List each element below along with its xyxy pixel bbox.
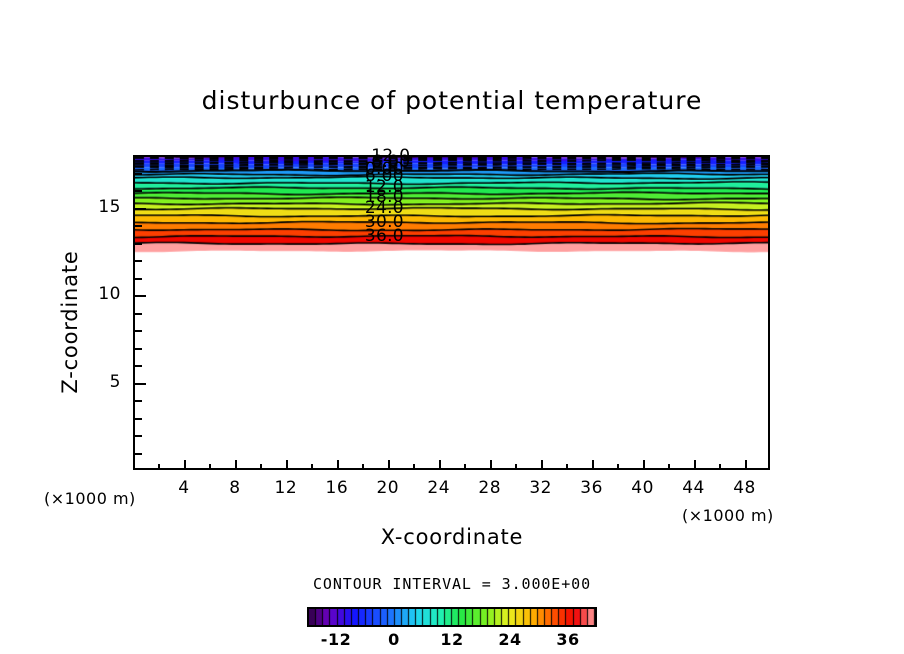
y-tick-label: 5 xyxy=(81,372,121,392)
axis-tick-mark xyxy=(490,460,492,470)
axis-tick-mark xyxy=(694,460,696,470)
x-tick-label: 12 xyxy=(266,478,306,498)
axis-tick-mark xyxy=(158,464,160,470)
x-tick-label: 48 xyxy=(725,478,765,498)
contour-interval-caption: CONTOUR INTERVAL = 3.000E+00 xyxy=(0,575,904,593)
axis-tick-mark xyxy=(286,460,288,470)
axis-tick-mark xyxy=(439,460,441,470)
axis-tick-mark xyxy=(134,365,142,367)
axis-tick-mark xyxy=(134,435,142,437)
y-tick-label: 10 xyxy=(81,284,121,304)
y-tick-label: 15 xyxy=(81,197,121,217)
contour-plot-area xyxy=(133,155,770,470)
colorbar-tick-label: 36 xyxy=(543,630,593,649)
axis-tick-mark xyxy=(134,225,142,227)
axis-tick-mark xyxy=(541,460,543,470)
axis-tick-mark xyxy=(413,464,415,470)
colorbar-canvas xyxy=(309,609,595,625)
axis-tick-mark xyxy=(134,330,142,332)
x-tick-label: 4 xyxy=(164,478,204,498)
axis-tick-mark xyxy=(134,383,146,385)
axis-tick-mark xyxy=(134,453,142,455)
y-axis-title: Z-coordinate xyxy=(58,212,82,432)
x-tick-label: 40 xyxy=(623,478,663,498)
axis-tick-mark xyxy=(388,460,390,470)
contour-level-label: 36.0 xyxy=(365,226,404,246)
axis-tick-mark xyxy=(134,260,142,262)
axis-tick-mark xyxy=(566,464,568,470)
x-tick-label: 16 xyxy=(317,478,357,498)
colorbar-tick-labels: -120122436 xyxy=(307,630,597,652)
colorbar-tick-label: 24 xyxy=(485,630,535,649)
x-tick-label: 20 xyxy=(368,478,408,498)
axis-tick-mark xyxy=(311,464,313,470)
axis-tick-mark xyxy=(134,173,142,175)
axis-tick-mark xyxy=(668,464,670,470)
axis-tick-mark xyxy=(134,295,146,297)
axis-tick-mark xyxy=(134,313,142,315)
x-axis-title: X-coordinate xyxy=(0,525,904,549)
colorbar-tick-label: 12 xyxy=(427,630,477,649)
colorbar-tick-label: -12 xyxy=(311,630,361,649)
axis-tick-mark xyxy=(362,464,364,470)
colorbar xyxy=(307,607,597,627)
axis-tick-mark xyxy=(184,460,186,470)
axis-tick-mark xyxy=(209,464,211,470)
contour-field-canvas xyxy=(135,157,768,468)
colorbar-tick-label: 0 xyxy=(369,630,419,649)
axis-tick-mark xyxy=(592,460,594,470)
axis-tick-mark xyxy=(134,278,142,280)
x-tick-label: 32 xyxy=(521,478,561,498)
z-axis-unit-label: (×1000 m) xyxy=(44,489,136,508)
x-tick-label: 28 xyxy=(470,478,510,498)
x-tick-label: 8 xyxy=(215,478,255,498)
page-title: disturbunce of potential temperature xyxy=(0,86,904,115)
axis-tick-mark xyxy=(235,460,237,470)
axis-tick-mark xyxy=(515,464,517,470)
x-tick-label: 36 xyxy=(572,478,612,498)
axis-tick-mark xyxy=(745,460,747,470)
axis-tick-mark xyxy=(643,460,645,470)
axis-tick-mark xyxy=(719,464,721,470)
axis-tick-mark xyxy=(464,464,466,470)
axis-tick-mark xyxy=(134,243,142,245)
x-tick-label: 44 xyxy=(674,478,714,498)
axis-tick-mark xyxy=(337,460,339,470)
x-axis-unit-label: (×1000 m) xyxy=(682,506,774,525)
axis-tick-mark xyxy=(617,464,619,470)
axis-tick-mark xyxy=(260,464,262,470)
axis-tick-mark xyxy=(134,400,142,402)
x-tick-label: 24 xyxy=(419,478,459,498)
axis-tick-mark xyxy=(134,190,142,192)
axis-tick-mark xyxy=(134,348,142,350)
axis-tick-mark xyxy=(134,418,142,420)
axis-tick-mark xyxy=(134,208,146,210)
